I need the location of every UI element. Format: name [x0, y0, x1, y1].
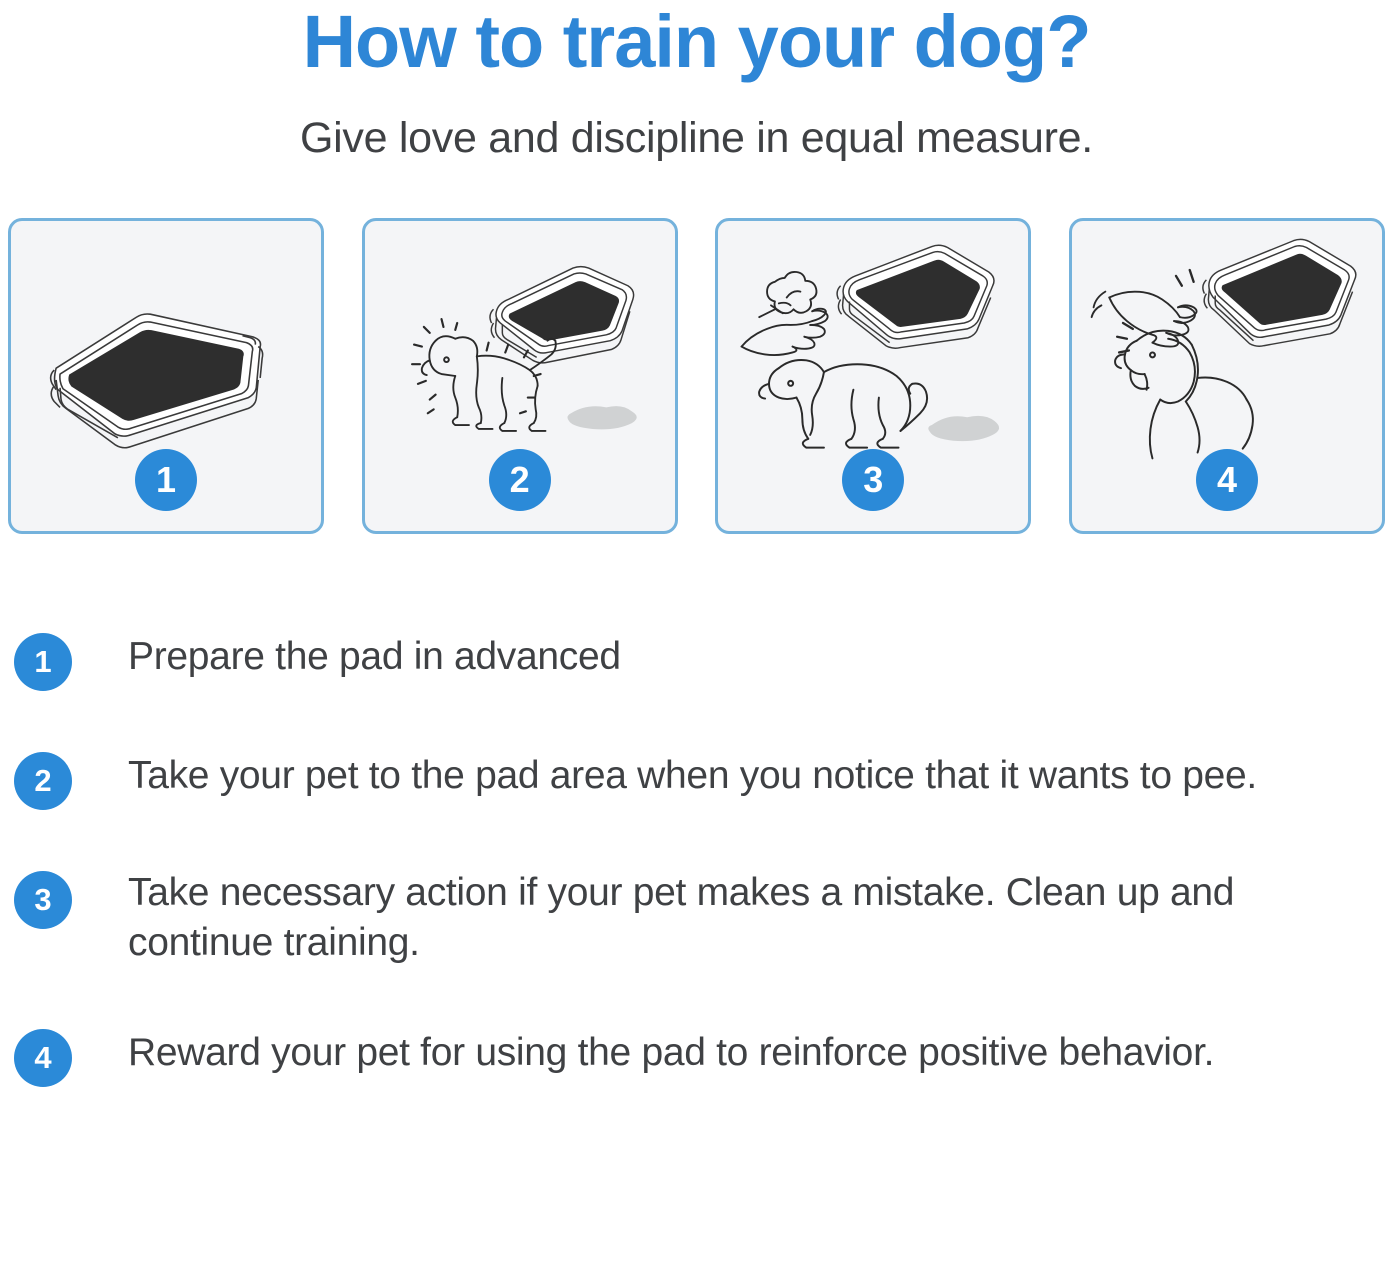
- infographic-header: How to train your dog? Give love and dis…: [0, 0, 1393, 163]
- illustration-panel-4: 4: [1069, 218, 1385, 534]
- page-title: How to train your dog?: [0, 4, 1393, 79]
- step-badge-2: 2: [14, 752, 72, 810]
- list-item: 1 Prepare the pad in advanced: [14, 630, 1393, 691]
- step-badge-3: 3: [14, 871, 72, 929]
- list-item: 4 Reward your pet for using the pad to r…: [14, 1026, 1393, 1087]
- page-subtitle: Give love and discipline in equal measur…: [0, 79, 1393, 162]
- step-badge-4: 4: [14, 1029, 72, 1087]
- illustration-panel-3: 3: [715, 218, 1031, 534]
- step-badge-1: 1: [14, 633, 72, 691]
- illustration-panel-2: 2: [362, 218, 678, 534]
- steps-list: 1 Prepare the pad in advanced 2 Take you…: [0, 630, 1393, 1087]
- illustration-panel-row: 1: [0, 218, 1393, 534]
- step-text-1: Prepare the pad in advanced: [72, 630, 621, 682]
- puddle-shape: [567, 406, 636, 429]
- panel-badge-2: 2: [489, 449, 551, 511]
- panel-badge-1: 1: [135, 449, 197, 511]
- panel-badge-3: 3: [842, 449, 904, 511]
- list-item: 2 Take your pet to the pad area when you…: [14, 749, 1393, 810]
- list-item: 3 Take necessary action if your pet make…: [14, 868, 1393, 968]
- puddle-shape: [929, 416, 1000, 441]
- step-text-4: Reward your pet for using the pad to rei…: [72, 1026, 1214, 1078]
- illustration-panel-1: 1: [8, 218, 324, 534]
- step-text-2: Take your pet to the pad area when you n…: [72, 749, 1257, 801]
- step-text-3: Take necessary action if your pet makes …: [72, 868, 1378, 968]
- panel-badge-4: 4: [1196, 449, 1258, 511]
